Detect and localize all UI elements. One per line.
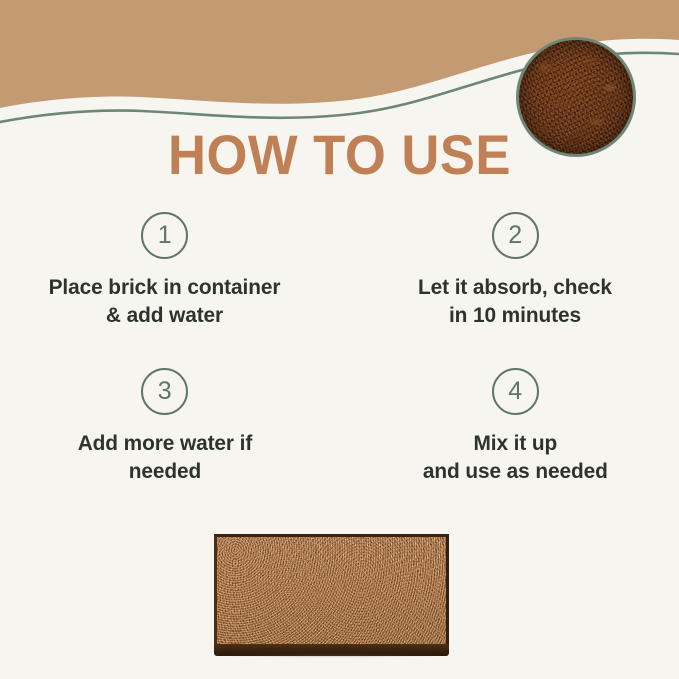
step-text-2: Let it absorb, check in 10 minutes [418, 273, 612, 330]
step-number-3: 3 [158, 379, 172, 404]
step-item-3: 3 Add more water if needed [0, 368, 340, 486]
infographic-canvas: HOW TO USE 1 Place brick in container & … [0, 0, 679, 679]
step-number-badge-2: 2 [492, 212, 539, 259]
step-number-badge-4: 4 [492, 368, 539, 415]
step-text-4: Mix it up and use as needed [423, 429, 608, 486]
step-number-2: 2 [508, 223, 522, 248]
page-title: HOW TO USE [20, 127, 658, 183]
brick-top-face [214, 534, 449, 648]
brick-shadow [220, 653, 444, 658]
step-item-1: 1 Place brick in container & add water [0, 212, 340, 330]
step-number-badge-3: 3 [141, 368, 188, 415]
step-item-2: 2 Let it absorb, check in 10 minutes [340, 212, 679, 330]
step-text-1: Place brick in container & add water [49, 273, 281, 330]
step-text-3: Add more water if needed [77, 429, 251, 486]
step-number-1: 1 [158, 223, 172, 248]
step-item-4: 4 Mix it up and use as needed [340, 368, 679, 486]
step-number-4: 4 [508, 379, 522, 404]
steps-grid: 1 Place brick in container & add water 2… [0, 212, 679, 486]
coir-brick-photo [214, 534, 449, 656]
step-number-badge-1: 1 [141, 212, 188, 259]
